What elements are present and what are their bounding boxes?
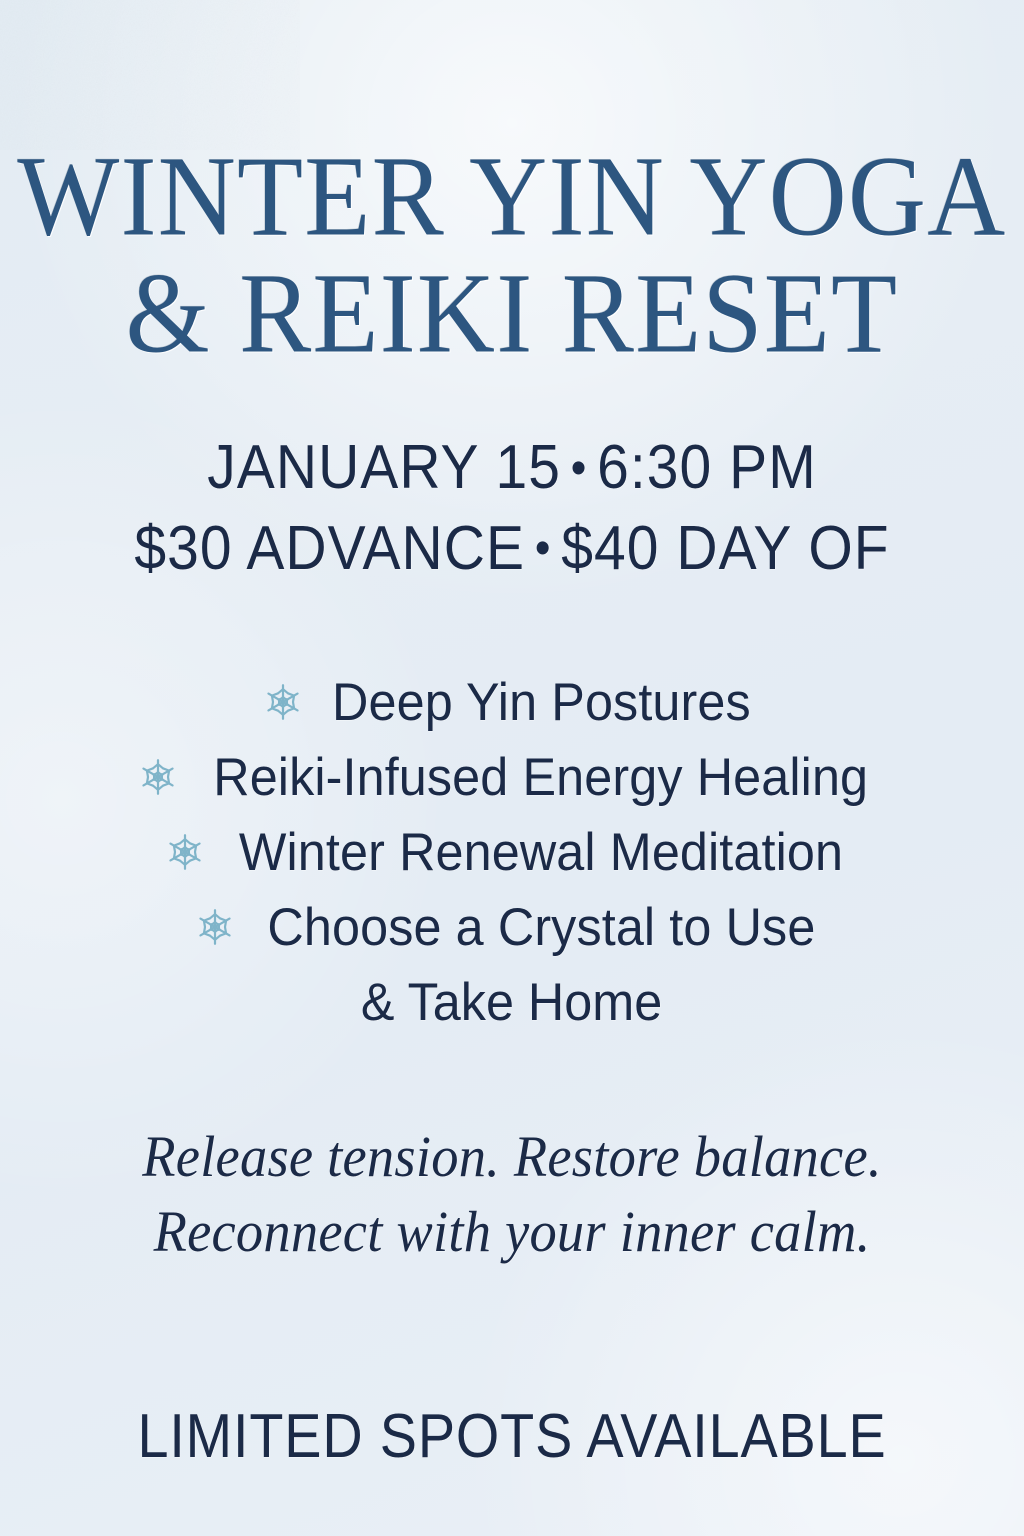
separator-dot-1: • bbox=[561, 437, 597, 500]
poster-content: WINTER YIN YOGA & REIKI RESET JANUARY 15… bbox=[0, 0, 1024, 1536]
title-line-2: & REIKI RESET bbox=[0, 255, 1024, 373]
tagline-line-2: Reconnect with your inner calm. bbox=[31, 1194, 994, 1269]
list-item: Winter Renewal Meditation bbox=[165, 826, 859, 879]
date-time-line: JANUARY 15•6:30 PM bbox=[41, 428, 983, 509]
feature-label: Deep Yin Postures bbox=[332, 676, 751, 729]
event-details: JANUARY 15•6:30 PM $30 ADVANCE•$40 DAY O… bbox=[0, 428, 1024, 589]
price-advance: $30 ADVANCE bbox=[134, 514, 525, 583]
snowflake-icon bbox=[138, 757, 178, 797]
snowflake-icon bbox=[195, 907, 235, 947]
availability-note: LIMITED SPOTS AVAILABLE bbox=[51, 1401, 973, 1472]
poster-title: WINTER YIN YOGA & REIKI RESET bbox=[0, 138, 1024, 366]
list-item: Deep Yin Postures bbox=[263, 676, 762, 729]
list-item: Choose a Crystal to Use bbox=[195, 901, 830, 954]
feature-label: Choose a Crystal to Use bbox=[267, 901, 815, 954]
feature-list: Deep Yin Postures bbox=[0, 676, 1024, 1055]
event-date: JANUARY 15 bbox=[207, 433, 561, 502]
tagline: Release tension. Restore balance. Reconn… bbox=[0, 1119, 1024, 1270]
footer: LIMITED SPOTS AVAILABLE bbox=[0, 1401, 1024, 1472]
feature-label: Winter Renewal Meditation bbox=[239, 826, 843, 879]
snowflake-icon bbox=[165, 832, 205, 872]
tagline-line-1: Release tension. Restore balance. bbox=[31, 1119, 994, 1194]
snowflake-icon bbox=[263, 682, 303, 722]
separator-dot-2: • bbox=[525, 517, 561, 580]
event-poster: WINTER YIN YOGA & REIKI RESET JANUARY 15… bbox=[0, 0, 1024, 1536]
title-line-1: WINTER YIN YOGA bbox=[0, 138, 1024, 256]
price-day-of: $40 DAY OF bbox=[561, 514, 889, 583]
list-item: Reiki-Infused Energy Healing bbox=[138, 751, 885, 804]
feature-label-continuation: & Take Home bbox=[361, 972, 662, 1033]
event-time: 6:30 PM bbox=[597, 433, 817, 502]
pricing-line: $30 ADVANCE•$40 DAY OF bbox=[41, 509, 983, 590]
feature-label: Reiki-Infused Energy Healing bbox=[214, 751, 869, 804]
